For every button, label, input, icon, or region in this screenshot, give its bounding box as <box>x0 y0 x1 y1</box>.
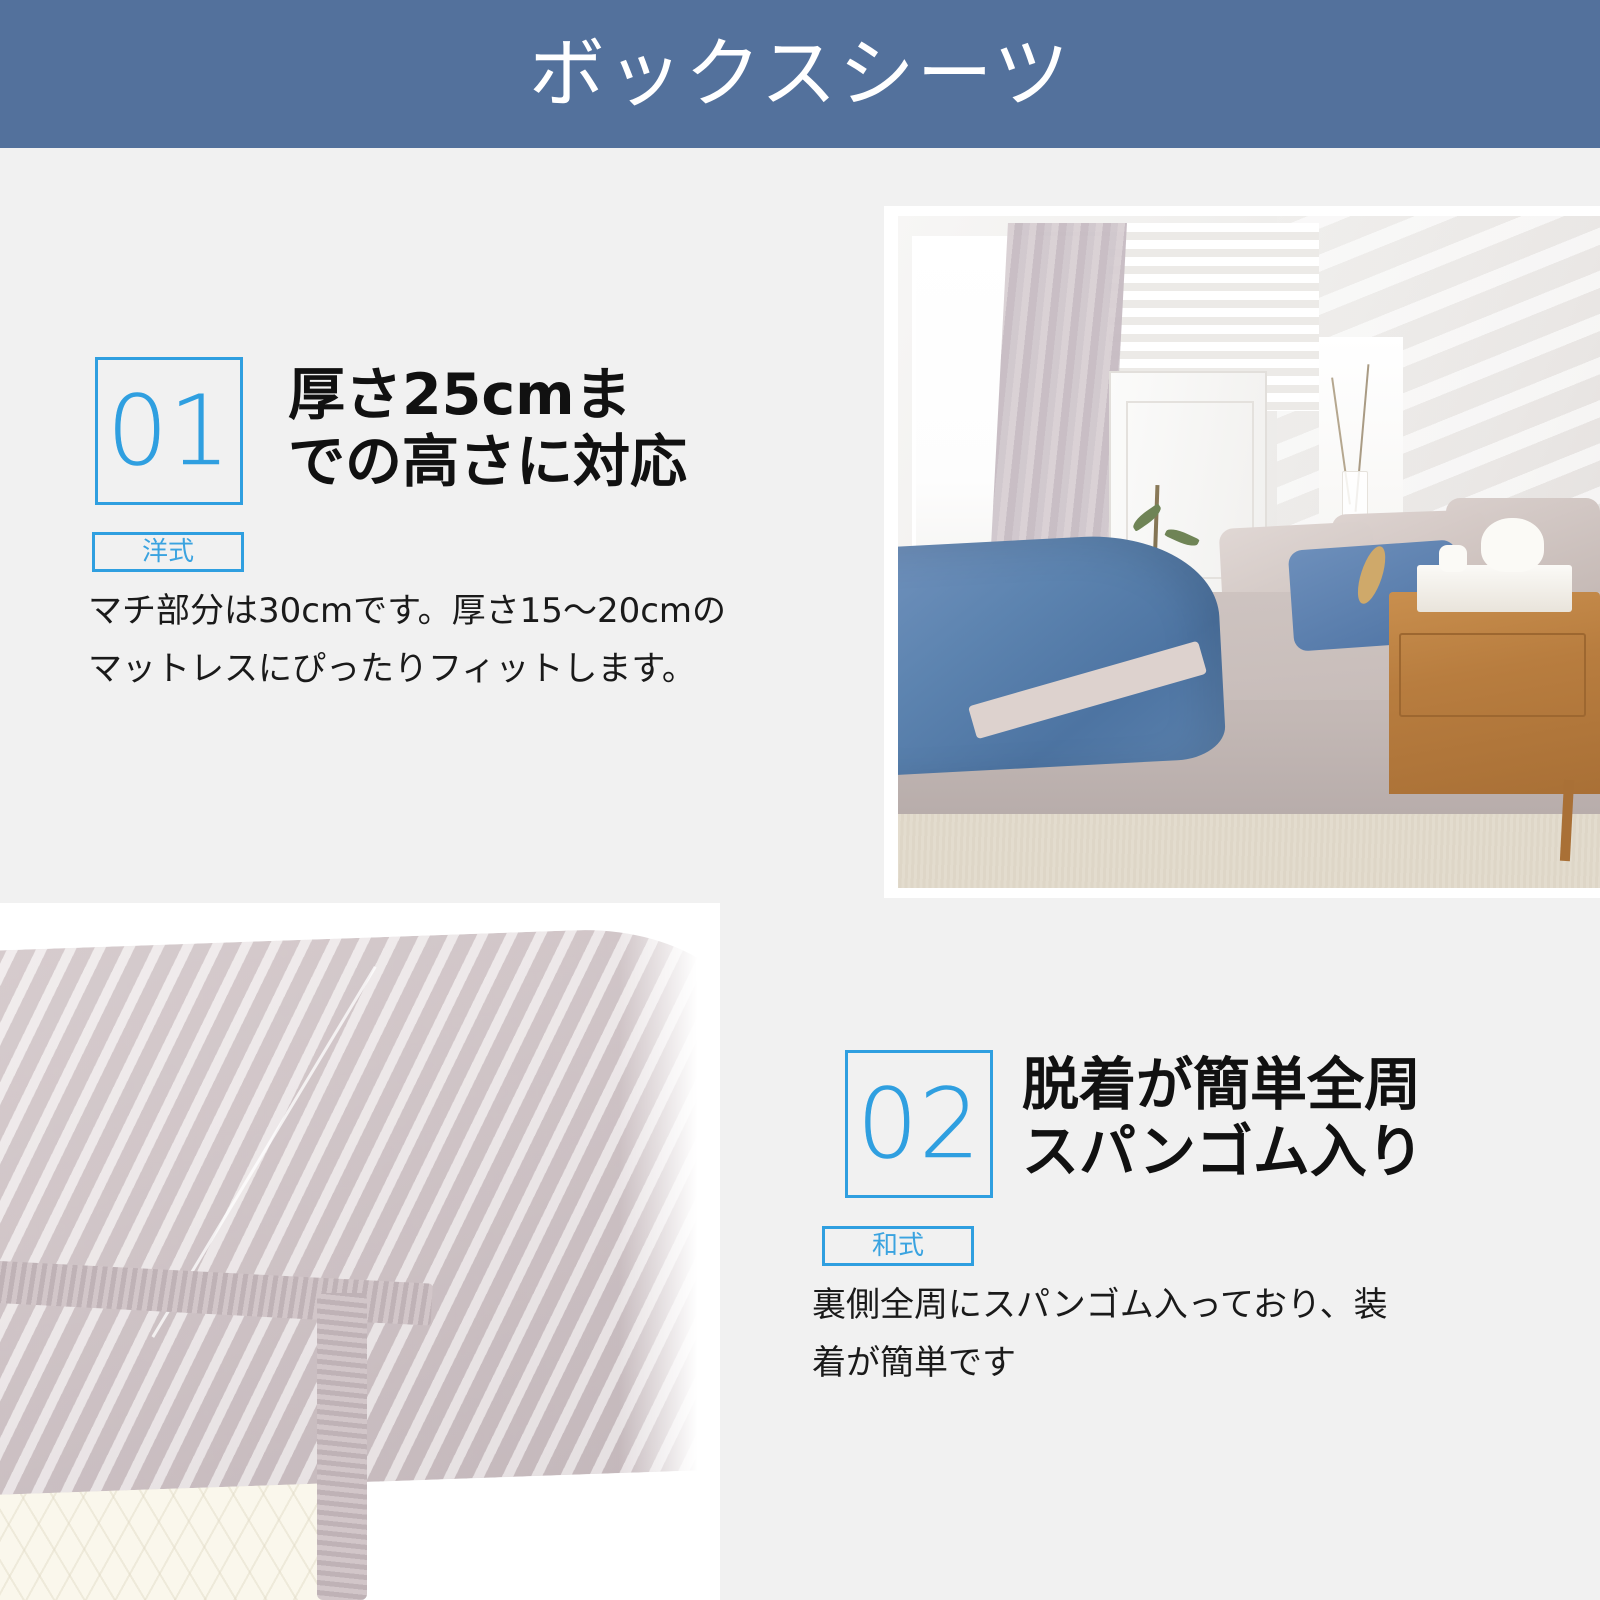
bedroom-scene <box>898 216 1600 888</box>
teapot <box>1481 518 1544 572</box>
header-banner: ボックスシーツ <box>0 0 1600 148</box>
feature-number-box-01: 01 <box>95 357 243 505</box>
style-badge-label-01: 洋式 <box>142 539 194 565</box>
feature-heading-01: 厚さ25cmま での高さに対応 <box>288 362 808 497</box>
bedroom-photo <box>884 206 1600 898</box>
nightstand-drawer <box>1399 633 1586 718</box>
elastic-band-vertical <box>317 1293 367 1600</box>
page-title: ボックスシーツ <box>529 36 1071 112</box>
photo-edge-fade <box>619 903 720 1600</box>
sheet-corner-photo <box>0 903 720 1600</box>
teacup <box>1439 545 1467 572</box>
feature-body-02: 裏側全周にスパンゴム入っており、装 着が簡単です <box>812 1276 1532 1393</box>
feature-number-01: 01 <box>107 383 231 479</box>
feature-number-02: 02 <box>857 1076 981 1172</box>
tea-tray <box>1417 565 1571 612</box>
style-badge-02: 和式 <box>822 1226 974 1266</box>
sheet-corner-scene <box>0 903 720 1600</box>
floor <box>898 814 1600 888</box>
style-badge-label-02: 和式 <box>872 1233 924 1259</box>
feature-heading-02: 脱着が簡単全周 スパンゴム入り <box>1022 1052 1562 1187</box>
feature-body-01: マチ部分は30cmです。厚さ15〜20cmの マットレスにぴったりフィットします… <box>88 582 788 699</box>
feature-number-box-02: 02 <box>845 1050 993 1198</box>
style-badge-01: 洋式 <box>92 532 244 572</box>
